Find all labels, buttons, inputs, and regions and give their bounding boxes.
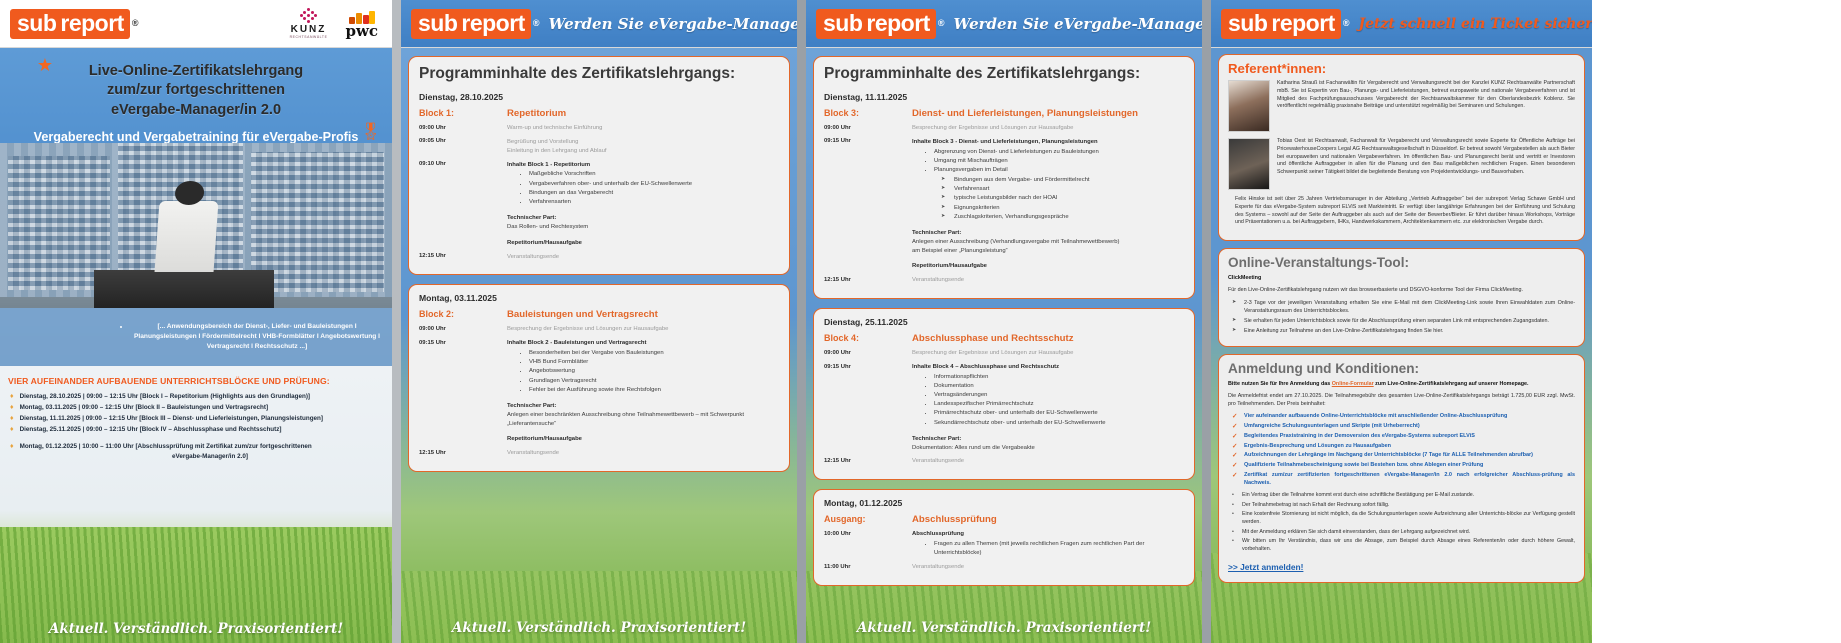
slide-divider (797, 0, 806, 643)
list-item: Verfahrensarten (529, 198, 692, 207)
list-item: Verfahrensart (954, 185, 1120, 194)
registered-icon: ® (132, 19, 139, 28)
agenda-detail: Inhalte Block 1 - Repetitorium Maßgeblic… (507, 161, 692, 248)
list-item: ♦Montag, 01.12.2025 | 10:00 – 11:00 Uhr … (10, 442, 388, 453)
program-card-block-1: Programminhalte des Zertifikatslehrgangs… (408, 56, 790, 275)
agenda-detail-title: Inhalte Block 2 - Bauleistungen und Vert… (507, 340, 646, 346)
technical-text: Das Rollen- und Rechtesystem (507, 224, 588, 230)
speakers-heading: Referent*innen: (1228, 61, 1575, 76)
list-item: Mit der Anmeldung erklären Sie sich dami… (1242, 529, 1575, 537)
block-label: Block 2: (419, 309, 507, 320)
list-item: ♦Dienstag, 25.11.2025 | 09:00 – 12:15 Uh… (10, 425, 388, 436)
list-item: Sie erhalten für jeden Unterrichtsblock … (1244, 317, 1575, 325)
list-item: Zertifikat zum/zur zertifizierten fortge… (1244, 471, 1575, 488)
schedule-date-1: Dienstag, 28.10.2025 | 09:00 – 12:15 Uhr… (20, 392, 310, 403)
block-title: Bauleistungen und Vertragsrecht (507, 309, 658, 320)
header-partner-logos: KUNZ RECHTSANWÄLTE pwc (284, 3, 392, 45)
logo-sub-text: sub (411, 9, 461, 39)
slide-3-program: subreport® Werden Sie eVergabe-Manager/i… (806, 0, 1202, 643)
list-item: Primärrechtschutz ober- und unterhalb de… (934, 409, 1106, 418)
technical-part: Technischer Part: Dokumentation: Alles r… (912, 435, 1106, 453)
agenda-detail-title: Inhalte Block 1 - Repetitorium (507, 162, 590, 168)
list-item: Informationspflichten (934, 373, 1106, 382)
agenda-time: 09:15 Uhr (824, 363, 912, 370)
list-item: Fragen zu allen Themen (mit jeweils rech… (934, 540, 1184, 558)
hero-bullet-item: [... Anwendungsbereich der Dienst-, Lief… (130, 322, 384, 353)
agenda-text: Veranstaltungsende (507, 253, 559, 262)
agenda-detail: Inhalte Block 4 – Abschlussphase und Rec… (912, 363, 1106, 452)
list-item: Vier aufeinander aufbauende Online-Unter… (1244, 412, 1575, 420)
hero-bullet-box: [... Anwendungsbereich der Dienst-, Lief… (0, 308, 392, 366)
kunz-dots-icon (300, 8, 317, 24)
agenda-time: 09:00 Uhr (824, 349, 912, 356)
registered-icon: ® (938, 19, 945, 28)
agenda-text: Warm-up und technische Einführung (507, 124, 602, 133)
bullet-icon: ♦ (10, 442, 14, 453)
speaker-bio: Tobias Oest ist Rechtsanwalt, Fachanwalt… (1277, 138, 1575, 190)
avatar (1228, 138, 1270, 190)
agenda-text: Besprechung der Ergebnisse und Lösungen … (507, 325, 668, 334)
technical-part: Technischer Part: Das Rollen- und Rechte… (507, 214, 692, 232)
agenda-text: Besprechung der Ergebnisse und Lösungen … (912, 349, 1073, 358)
list-item: typische Leistungsbilder nach der HOAI (954, 194, 1120, 203)
list-item: Umfangreiche Schulungsunterlagen und Skr… (1244, 422, 1575, 430)
agenda-time: 12:15 Uhr (419, 253, 507, 260)
card-date: Montag, 01.12.2025 (824, 498, 1184, 508)
agenda-row: 09:15 Uhr Inhalte Block 3 - Dienst- und … (824, 138, 1184, 271)
technical-label: Technischer Part: (912, 230, 961, 236)
slide-1-title: subreport® KUNZ RECHTSANWÄLTE (0, 0, 392, 643)
kunz-name: KUNZ (291, 25, 327, 35)
agenda-detail-title: Inhalte Block 3 - Dienst- und Lieferleis… (912, 139, 1098, 145)
avatar (1228, 80, 1270, 132)
agenda-bullets: Besonderheiten bei der Vergabe von Baule… (529, 349, 779, 395)
technical-label: Technischer Part: (507, 403, 556, 409)
agenda-bullets: Informationspflichten Dokumentation Vert… (934, 373, 1106, 428)
block-title-row: Block 3: Dienst- und Lieferleistungen, P… (824, 108, 1184, 119)
agenda-time: 09:10 Uhr (419, 161, 507, 168)
bullet-icon: ♦ (10, 403, 14, 414)
agenda-bullets: Abgrenzung von Dienst- und Lieferleistun… (934, 148, 1120, 222)
registration-benefits: Vier aufeinander aufbauende Online-Unter… (1244, 412, 1575, 487)
list-item: Maßgebliche Vorschriften (529, 170, 692, 179)
repetition-text: Repetitorium/Hausaufgabe (507, 435, 779, 444)
slide-4-tagline: Jetzt schnell ein Ticket sichern! (1358, 16, 1592, 32)
agenda-time: 09:15 Uhr (419, 339, 507, 346)
registration-card: Anmeldung und Konditionen: Bitte nutzen … (1218, 354, 1585, 583)
agenda-time: 12:15 Uhr (824, 276, 912, 283)
list-item: ♦Dienstag, 11.11.2025 | 09:00 – 12:15 Uh… (10, 414, 388, 425)
schedule-date-4: Dienstag, 25.11.2025 | 09:00 – 12:15 Uhr… (20, 425, 282, 436)
registration-notes: Ein Vertrag über die Teilnahme kommt ers… (1242, 492, 1575, 554)
slide-3-body: Programminhalte des Zertifikatslehrgangs… (806, 48, 1202, 643)
speaker-row: Tobias Oest ist Rechtsanwalt, Fachanwalt… (1228, 138, 1575, 190)
speaker-bio: Katharina Strauß ist Fachanwältin für Ve… (1277, 80, 1575, 132)
register-now-link[interactable]: >> Jetzt anmelden! (1228, 562, 1303, 572)
program-heading: Programminhalte des Zertifikatslehrgangs… (419, 65, 779, 83)
speaker-row: Katharina Strauß ist Fachanwältin für Ve… (1228, 80, 1575, 132)
agenda-time: 12:15 Uhr (419, 449, 507, 456)
agenda-time: 11:00 Uhr (824, 563, 912, 570)
list-item: Sekundärrechtschutz ober- und unterhalb … (934, 419, 1106, 428)
block-label: Block 1: (419, 108, 507, 119)
list-item: Zuschlagskriterien, Verhandlungsgespräch… (954, 213, 1120, 222)
agenda-time: 09:05 Uhr (419, 138, 507, 145)
schedule-date-2: Montag, 03.11.2025 | 09:00 – 12:15 Uhr [… (20, 403, 268, 414)
agenda-text: Veranstaltungsende (507, 449, 559, 458)
registration-price: Die Anmeldefrist endet am 27.10.2025. Di… (1228, 392, 1575, 408)
list-item: Vergabeverfahren ober- und unterhalb der… (529, 180, 692, 189)
slide-deck: subreport® KUNZ RECHTSANWÄLTE (0, 0, 1841, 643)
tool-items: 2-3 Tage vor der jeweiligen Veranstaltun… (1244, 299, 1575, 335)
technical-part: Technischer Part: Anlegen einer beschrän… (507, 402, 779, 429)
list-item: Abgrenzung von Dienst- und Lieferleistun… (934, 148, 1120, 157)
list-item: Bindungen an das Vergaberecht (529, 189, 692, 198)
list-item: Aufzeichnungen der Lehrgänge im Nachgang… (1244, 451, 1575, 459)
subreport-logo: subreport® (411, 9, 539, 39)
logo-sub-text: sub (10, 9, 60, 39)
agenda-time: 12:15 Uhr (824, 457, 912, 464)
agenda-row: 12:15 UhrVeranstaltungsende (824, 276, 1184, 285)
list-item: VHB Bund Formblätter (529, 358, 779, 367)
agenda-time: 09:00 Uhr (419, 325, 507, 332)
slide-4-header: subreport® Jetzt schnell ein Ticket sich… (1211, 0, 1592, 48)
pwc-mark-icon (349, 9, 375, 24)
subreport-logo: subreport® (1221, 9, 1349, 39)
list-item: Qualifizierte Teilnahmebescheinigung sow… (1244, 461, 1575, 469)
slide-1-title-line-3: eVergabe-Manager/in 2.0 (10, 101, 382, 120)
agenda-bullets: Fragen zu allen Themen (mit jeweils rech… (934, 540, 1184, 558)
bullet-icon: ♦ (10, 392, 14, 403)
agenda-time: 10:00 Uhr (824, 530, 912, 537)
tool-intro: Für den Live-Online-Zertifikatslehrgang … (1228, 286, 1575, 294)
program-heading: Programminhalte des Zertifikatslehrgangs… (824, 65, 1184, 83)
technical-text: Anlegen einer beschränkten Ausschreibung… (507, 412, 744, 427)
list-item: Grundlagen Vertragsrecht (529, 377, 779, 386)
schedule-heading: VIER AUFEINANDER AUFBAUENDE UNTERRICHTSB… (0, 366, 392, 390)
exam-date: Montag, 01.12.2025 | 10:00 – 11:00 Uhr [… (20, 442, 312, 453)
list-item: Ein Vertrag über die Teilnahme kommt ers… (1242, 492, 1575, 500)
agenda-row: 09:15 Uhr Inhalte Block 4 – Abschlusspha… (824, 363, 1184, 452)
technical-label: Technischer Part: (507, 215, 556, 221)
kunz-logo: KUNZ RECHTSANWÄLTE (284, 3, 334, 45)
block-title: Dienst- und Lieferleistungen, Planungsle… (912, 108, 1138, 119)
list-item: Eignungskriterien (954, 204, 1120, 213)
block-title-row: Block 4: Abschlussphase und Rechtsschutz (824, 333, 1184, 344)
registration-intro-a: Bitte nutzen Sie für Ihre Anmeldung das (1228, 381, 1332, 387)
registered-icon: ® (533, 19, 540, 28)
agenda-row: 10:00 Uhr Abschlussprüfung Fragen zu all… (824, 530, 1184, 558)
slide-3-footer: Aktuell. Verständlich. Praxisorientiert! (806, 620, 1202, 636)
agenda-detail-title: Abschlussprüfung (912, 531, 964, 537)
agenda-text: Veranstaltungsende (912, 457, 964, 466)
block-title-row: Block 2: Bauleistungen und Vertragsrecht (419, 309, 779, 320)
tool-name: ClickMeeting (1228, 274, 1575, 282)
logo-sub-text: sub (1221, 9, 1271, 39)
list-item: Besonderheiten bei der Vergabe von Baule… (529, 349, 779, 358)
agenda-text: Veranstaltungsende (912, 276, 964, 285)
slide-3-tagline: Werden Sie eVergabe-Manager/in 2.0! (953, 15, 1202, 33)
slide-2-tagline: Werden Sie eVergabe-Manager/in 2.0! (548, 15, 797, 33)
list-item: ♦Montag, 03.11.2025 | 09:00 – 12:15 Uhr … (10, 403, 388, 414)
slide-2-footer: Aktuell. Verständlich. Praxisorientiert! (401, 620, 797, 636)
list-item: Fehler bei der Ausführung sowie ihre Rec… (529, 386, 779, 395)
speaker-row: Felix Hinske ist seit über 25 Jahren Ver… (1228, 196, 1575, 227)
block-title-row: Block 1: Repetitorium (419, 108, 779, 119)
speakers-card: Referent*innen: Katharina Strauß ist Fac… (1218, 54, 1585, 241)
speaker-bio: Felix Hinske ist seit über 25 Jahren Ver… (1235, 196, 1575, 227)
agenda-text: Besprechung der Ergebnisse und Lösungen … (912, 124, 1073, 133)
registration-intro-b: zum Live-Online-Zertifikatslehrgang auf … (1374, 381, 1529, 387)
agenda-time: 09:00 Uhr (419, 124, 507, 131)
list-item: Dokumentation (934, 382, 1106, 391)
list-item: Planungsvergaben im Detail (934, 166, 1120, 175)
agenda-detail: Inhalte Block 2 - Bauleistungen und Vert… (507, 339, 779, 444)
list-item: Eine kostenfreie Stornierung ist nicht m… (1242, 511, 1575, 527)
list-item: Landesspezifischer Primärrechtschutz (934, 400, 1106, 409)
block-title: Abschlussphase und Rechtsschutz (912, 333, 1074, 344)
block-title-row: Ausgang: Abschlussprüfung (824, 514, 1184, 525)
slide-divider (1202, 0, 1211, 643)
agenda-row: 09:10 Uhr Inhalte Block 1 - Repetitorium… (419, 161, 779, 248)
program-card-block-3: Programminhalte des Zertifikatslehrgangs… (813, 56, 1195, 299)
slide-1-schedule: VIER AUFEINANDER AUFBAUENDE UNTERRICHTSB… (0, 366, 392, 643)
agenda-detail: Abschlussprüfung Fragen zu allen Themen … (912, 530, 1184, 558)
slide-3-header: subreport® Werden Sie eVergabe-Manager/i… (806, 0, 1202, 48)
slide-1-title-line-1: Live-Online-Zertifikatslehrgang (10, 62, 382, 81)
list-item: Wir bitten um Ihr Verständnis, dass wir … (1242, 538, 1575, 554)
agenda-row: 09:05 UhrBegrüßung und Vorstellung Einle… (419, 138, 779, 156)
registration-intro: Bitte nutzen Sie für Ihre Anmeldung das … (1228, 380, 1575, 388)
block-label: Block 3: (824, 108, 912, 119)
agenda-bullets: Maßgebliche Vorschriften Vergabeverfahre… (529, 170, 692, 207)
agenda-row: 09:00 UhrBesprechung der Ergebnisse und … (824, 349, 1184, 358)
bullet-icon: ♦ (10, 425, 14, 436)
agenda-row: 12:15 UhrVeranstaltungsende (419, 449, 779, 458)
registration-heading: Anmeldung und Konditionen: (1228, 361, 1575, 376)
registered-icon: ® (1343, 19, 1350, 28)
pwc-logo: pwc (339, 3, 384, 45)
agenda-time: 09:00 Uhr (824, 124, 912, 131)
card-date: Dienstag, 28.10.2025 (419, 92, 779, 102)
list-item: 2-3 Tage vor der jeweiligen Veranstaltun… (1244, 299, 1575, 315)
list-item: Ergebnis-Besprechung und Lösungen zu Hau… (1244, 442, 1575, 450)
card-date: Montag, 03.11.2025 (419, 293, 779, 303)
list-item: Angebotswertung (529, 367, 779, 376)
agenda-row: 09:15 Uhr Inhalte Block 2 - Bauleistunge… (419, 339, 779, 444)
logo-report-text: report (866, 9, 935, 39)
technical-text: Dokumentation: Alles rund um die Vergabe… (912, 445, 1035, 451)
slide-2-body: Programminhalte des Zertifikatslehrgangs… (401, 48, 797, 643)
exam-date-cont: eVergabe-Manager/in 2.0] (10, 453, 388, 460)
agenda-text: Veranstaltungsende (912, 563, 964, 572)
agenda-detail-title: Inhalte Block 4 – Abschlussphase und Rec… (912, 364, 1059, 370)
online-tool-card: Online-Veranstaltungs-Tool: ClickMeeting… (1218, 248, 1585, 347)
slide-1-title-line-2: zum/zur fortgeschrittenen (10, 81, 382, 100)
program-card-exam: Montag, 01.12.2025 Ausgang: Abschlussprü… (813, 489, 1195, 586)
logo-report-text: report (60, 9, 129, 39)
slide-divider (392, 0, 401, 643)
repetition-text: Repetitorium/Hausaufgabe (507, 239, 692, 248)
block-label: Block 4: (824, 333, 912, 344)
subreport-logo: subreport® (816, 9, 944, 39)
agenda-row: 09:00 UhrWarm-up und technische Einführu… (419, 124, 779, 133)
technical-label: Technischer Part: (912, 436, 961, 442)
tool-heading: Online-Veranstaltungs-Tool: (1228, 255, 1575, 270)
bullet-icon: ♦ (10, 414, 14, 425)
agenda-row: 11:00 UhrVeranstaltungsende (824, 563, 1184, 572)
schedule-list: ♦Dienstag, 28.10.2025 | 09:00 – 12:15 Uh… (0, 390, 392, 460)
logo-report-text: report (461, 9, 530, 39)
list-item: Der Teilnahmebetrag ist nach Erhalt der … (1242, 502, 1575, 510)
kunz-subtitle: RECHTSANWÄLTE (290, 35, 328, 39)
block-label: Ausgang: (824, 514, 912, 525)
technical-text: Anlegen einer Ausschreibung (Verhandlung… (912, 239, 1120, 254)
schedule-date-3: Dienstag, 11.11.2025 | 09:00 – 12:15 Uhr… (20, 414, 323, 425)
logo-report-text: report (1271, 9, 1340, 39)
agenda-row: 09:00 UhrBesprechung der Ergebnisse und … (824, 124, 1184, 133)
agenda-text: Begrüßung und Vorstellung Einleitung in … (507, 138, 607, 156)
block-title: Repetitorium (507, 108, 566, 119)
slide-2-program: subreport® Werden Sie eVergabe-Manager/i… (401, 0, 797, 643)
star-icon: ★ (36, 56, 54, 74)
agenda-row: 12:15 UhrVeranstaltungsende (824, 457, 1184, 466)
agenda-detail: Inhalte Block 3 - Dienst- und Lieferleis… (912, 138, 1120, 271)
list-item: ♦Dienstag, 28.10.2025 | 09:00 – 12:15 Uh… (10, 392, 388, 403)
slide-1-title-block: ★ Live-Online-Zertifikatslehrgang zum/zu… (0, 48, 392, 146)
slide-4-body: Referent*innen: Katharina Strauß ist Fac… (1211, 48, 1592, 643)
slide-2-header: subreport® Werden Sie eVergabe-Manager/i… (401, 0, 797, 48)
program-card-block-2: Montag, 03.11.2025 Block 2: Bauleistunge… (408, 284, 790, 472)
card-date: Dienstag, 11.11.2025 (824, 92, 1184, 102)
agenda-row: 12:15 UhrVeranstaltungsende (419, 253, 779, 262)
logo-sub-text: sub (816, 9, 866, 39)
agenda-time: 09:15 Uhr (824, 138, 912, 145)
slide-1-footer: Aktuell. Verständlich. Praxisorientiert! (0, 621, 392, 637)
subreport-logo: subreport® (10, 9, 138, 39)
pwc-name: pwc (345, 24, 378, 39)
slide-1-header: subreport® KUNZ RECHTSANWÄLTE (0, 0, 392, 48)
list-item: Begleitendes Praxistraining in der Demov… (1244, 432, 1575, 440)
technical-part: Technischer Part: Anlegen einer Ausschre… (912, 229, 1120, 256)
online-form-link[interactable]: Online-Formular (1332, 381, 1374, 387)
block-title: Abschlussprüfung (912, 514, 997, 525)
slide-1-hero: ★ Live-Online-Zertifikatslehrgang zum/zu… (0, 48, 392, 366)
card-date: Dienstag, 25.11.2025 (824, 317, 1184, 327)
list-item: Umgang mit Mischaufträgen (934, 157, 1120, 166)
program-card-block-4: Dienstag, 25.11.2025 Block 4: Abschlussp… (813, 308, 1195, 480)
repetition-text: Repetitorium/Hausaufgabe (912, 262, 1120, 271)
list-item: Eine Anleitung zur Teilnahme an den Live… (1244, 327, 1575, 335)
slide-4-info: subreport® Jetzt schnell ein Ticket sich… (1211, 0, 1592, 643)
list-item: Vertragsänderungen (934, 391, 1106, 400)
agenda-row: 09:00 UhrBesprechung der Ergebnisse und … (419, 325, 779, 334)
list-item: Bindungen aus dem Vergabe- und Fördermit… (954, 176, 1120, 185)
agenda-subbullets: Bindungen aus dem Vergabe- und Fördermit… (954, 176, 1120, 222)
